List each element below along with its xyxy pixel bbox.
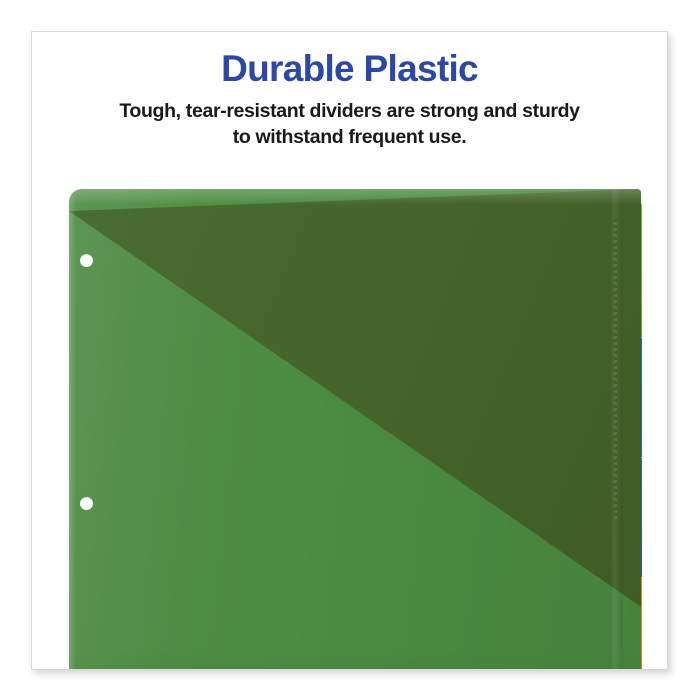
marketing-text-block: Durable Plastic Tough, tear-resistant di… (32, 32, 667, 151)
punch-hole-top (80, 254, 93, 267)
punch-hole-bottom (80, 497, 93, 510)
sheet-bottom-fade (69, 649, 641, 670)
product-feature-card: Durable Plastic Tough, tear-resistant di… (31, 31, 668, 670)
subtitle-line-2: to withstand frequent use. (32, 125, 667, 151)
subtitle-line-1: Tough, tear-resistant dividers are stron… (32, 99, 667, 125)
sheet-left-spine (69, 189, 76, 670)
sheet-hinge-perforation (614, 219, 617, 519)
flap-top-sheen (69, 189, 641, 205)
subtitle: Tough, tear-resistant dividers are stron… (32, 89, 667, 151)
divider-sheet (69, 189, 641, 670)
product-image-canvas: Durable Plastic Tough, tear-resistant di… (0, 0, 700, 700)
page-title: Durable Plastic (32, 32, 667, 89)
